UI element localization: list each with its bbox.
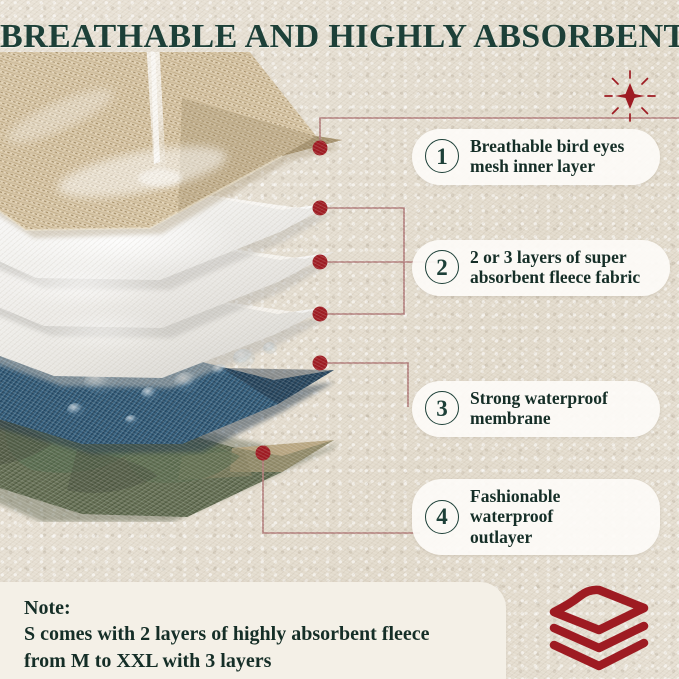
callout-4-label: Fashionable waterproof outlayer	[470, 486, 644, 547]
note-panel: Note: S comes with 2 layers of highly ab…	[0, 582, 506, 679]
callout-4[interactable]: 4 Fashionable waterproof outlayer	[412, 479, 660, 555]
callout-3-number: 3	[425, 391, 459, 425]
callout-2-number: 2	[425, 250, 459, 284]
callout-2[interactable]: 2 2 or 3 layers of super absorbent fleec…	[412, 240, 670, 296]
layers-stack-icon	[540, 582, 658, 674]
callout-1[interactable]: 1 Breathable bird eyes mesh inner layer	[412, 129, 660, 185]
note-label: Note:	[24, 595, 506, 621]
callout-3-label: Strong waterproof membrane	[470, 388, 608, 429]
sparkle-icon	[604, 70, 656, 122]
callout-1-label: Breathable bird eyes mesh inner layer	[470, 136, 624, 177]
callout-2-label: 2 or 3 layers of super absorbent fleece …	[470, 247, 640, 288]
infographic-canvas: BREATHABLE AND HIGHLY ABSORBENT 1 Breath…	[0, 0, 679, 679]
callout-3[interactable]: 3 Strong waterproof membrane	[412, 381, 660, 437]
callout-4-number: 4	[425, 500, 459, 534]
product-layer-stack-image	[0, 52, 382, 522]
callout-1-number: 1	[425, 139, 459, 173]
page-title: BREATHABLE AND HIGHLY ABSORBENT	[0, 18, 679, 56]
note-body: S comes with 2 layers of highly absorben…	[24, 621, 506, 675]
